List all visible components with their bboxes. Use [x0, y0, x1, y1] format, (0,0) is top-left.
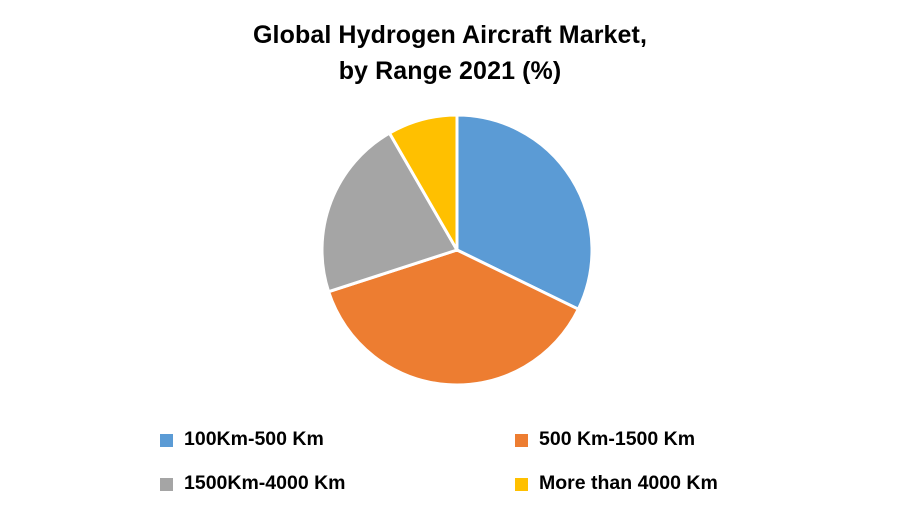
legend-item-500km-1500km[interactable]: 500 Km-1500 Km — [515, 430, 760, 450]
pie-chart-figure: Global Hydrogen Aircraft Market, by Rang… — [0, 0, 900, 525]
chart-legend: 100Km-500 Km 500 Km-1500 Km 1500Km-4000 … — [160, 418, 760, 506]
chart-title: Global Hydrogen Aircraft Market, by Rang… — [0, 18, 900, 89]
pie-plot-area — [312, 105, 602, 395]
legend-label: 1500Km-4000 Km — [184, 474, 346, 494]
pie-svg — [312, 105, 602, 395]
legend-item-more-than-4000km[interactable]: More than 4000 Km — [515, 474, 760, 494]
legend-swatch-icon — [160, 478, 173, 491]
legend-swatch-icon — [515, 478, 528, 491]
legend-swatch-icon — [160, 434, 173, 447]
legend-item-100km-500km[interactable]: 100Km-500 Km — [160, 430, 515, 450]
legend-label: More than 4000 Km — [539, 474, 718, 494]
chart-title-line-1: Global Hydrogen Aircraft Market, — [0, 18, 900, 54]
legend-swatch-icon — [515, 434, 528, 447]
legend-label: 100Km-500 Km — [184, 430, 324, 450]
chart-title-line-2: by Range 2021 (%) — [0, 54, 900, 90]
legend-label: 500 Km-1500 Km — [539, 430, 695, 450]
pie-slice-group — [322, 115, 592, 385]
legend-item-1500km-4000km[interactable]: 1500Km-4000 Km — [160, 474, 515, 494]
